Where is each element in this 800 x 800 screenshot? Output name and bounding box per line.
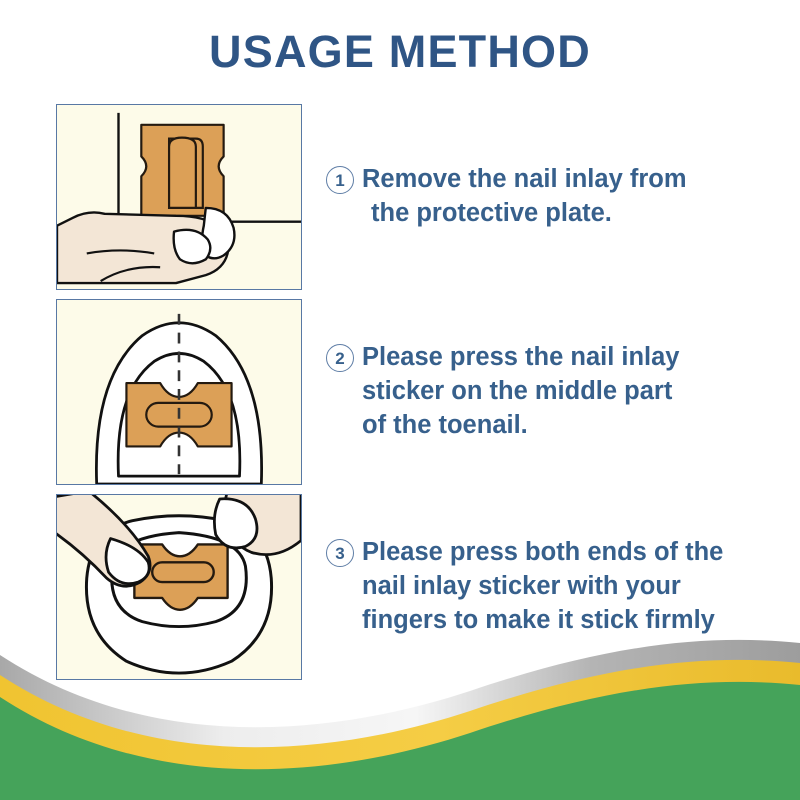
- step-text-line: Please press the nail inlay: [362, 341, 680, 375]
- step-text-line: Please press both ends of the: [362, 536, 723, 570]
- step-text: 2 Please press the nail inlay sticker on…: [326, 299, 794, 485]
- step-number-badge: 3: [326, 539, 354, 567]
- step-row: 2 Please press the nail inlay sticker on…: [0, 299, 800, 485]
- step-instruction-text: Remove the nail inlay from the protectiv…: [362, 163, 687, 231]
- bottom-wave-decoration: [0, 625, 800, 800]
- center-sticker-drawing: [57, 300, 301, 484]
- step-text: 1 Remove the nail inlay from the protect…: [326, 104, 794, 290]
- illustration-peel-sticker: [56, 104, 302, 290]
- wave-graphic: [0, 625, 800, 800]
- step-number-badge: 2: [326, 344, 354, 372]
- peel-sticker-drawing: [57, 105, 301, 289]
- illustration-center-sticker-on-toenail: [56, 299, 302, 485]
- step-text-line: nail inlay sticker with your: [362, 570, 723, 604]
- step-text-line: sticker on the middle part: [362, 375, 680, 409]
- step-instruction-text: Please press both ends of the nail inlay…: [362, 536, 723, 638]
- page-title: USAGE METHOD: [0, 26, 800, 78]
- step-text-line: of the toenail.: [362, 409, 680, 443]
- step-instruction-text: Please press the nail inlay sticker on t…: [362, 341, 680, 443]
- step-text-line: the protective plate.: [362, 197, 687, 231]
- step-number-badge: 1: [326, 166, 354, 194]
- step-row: 1 Remove the nail inlay from the protect…: [0, 104, 800, 290]
- step-text-line: Remove the nail inlay from: [362, 163, 687, 197]
